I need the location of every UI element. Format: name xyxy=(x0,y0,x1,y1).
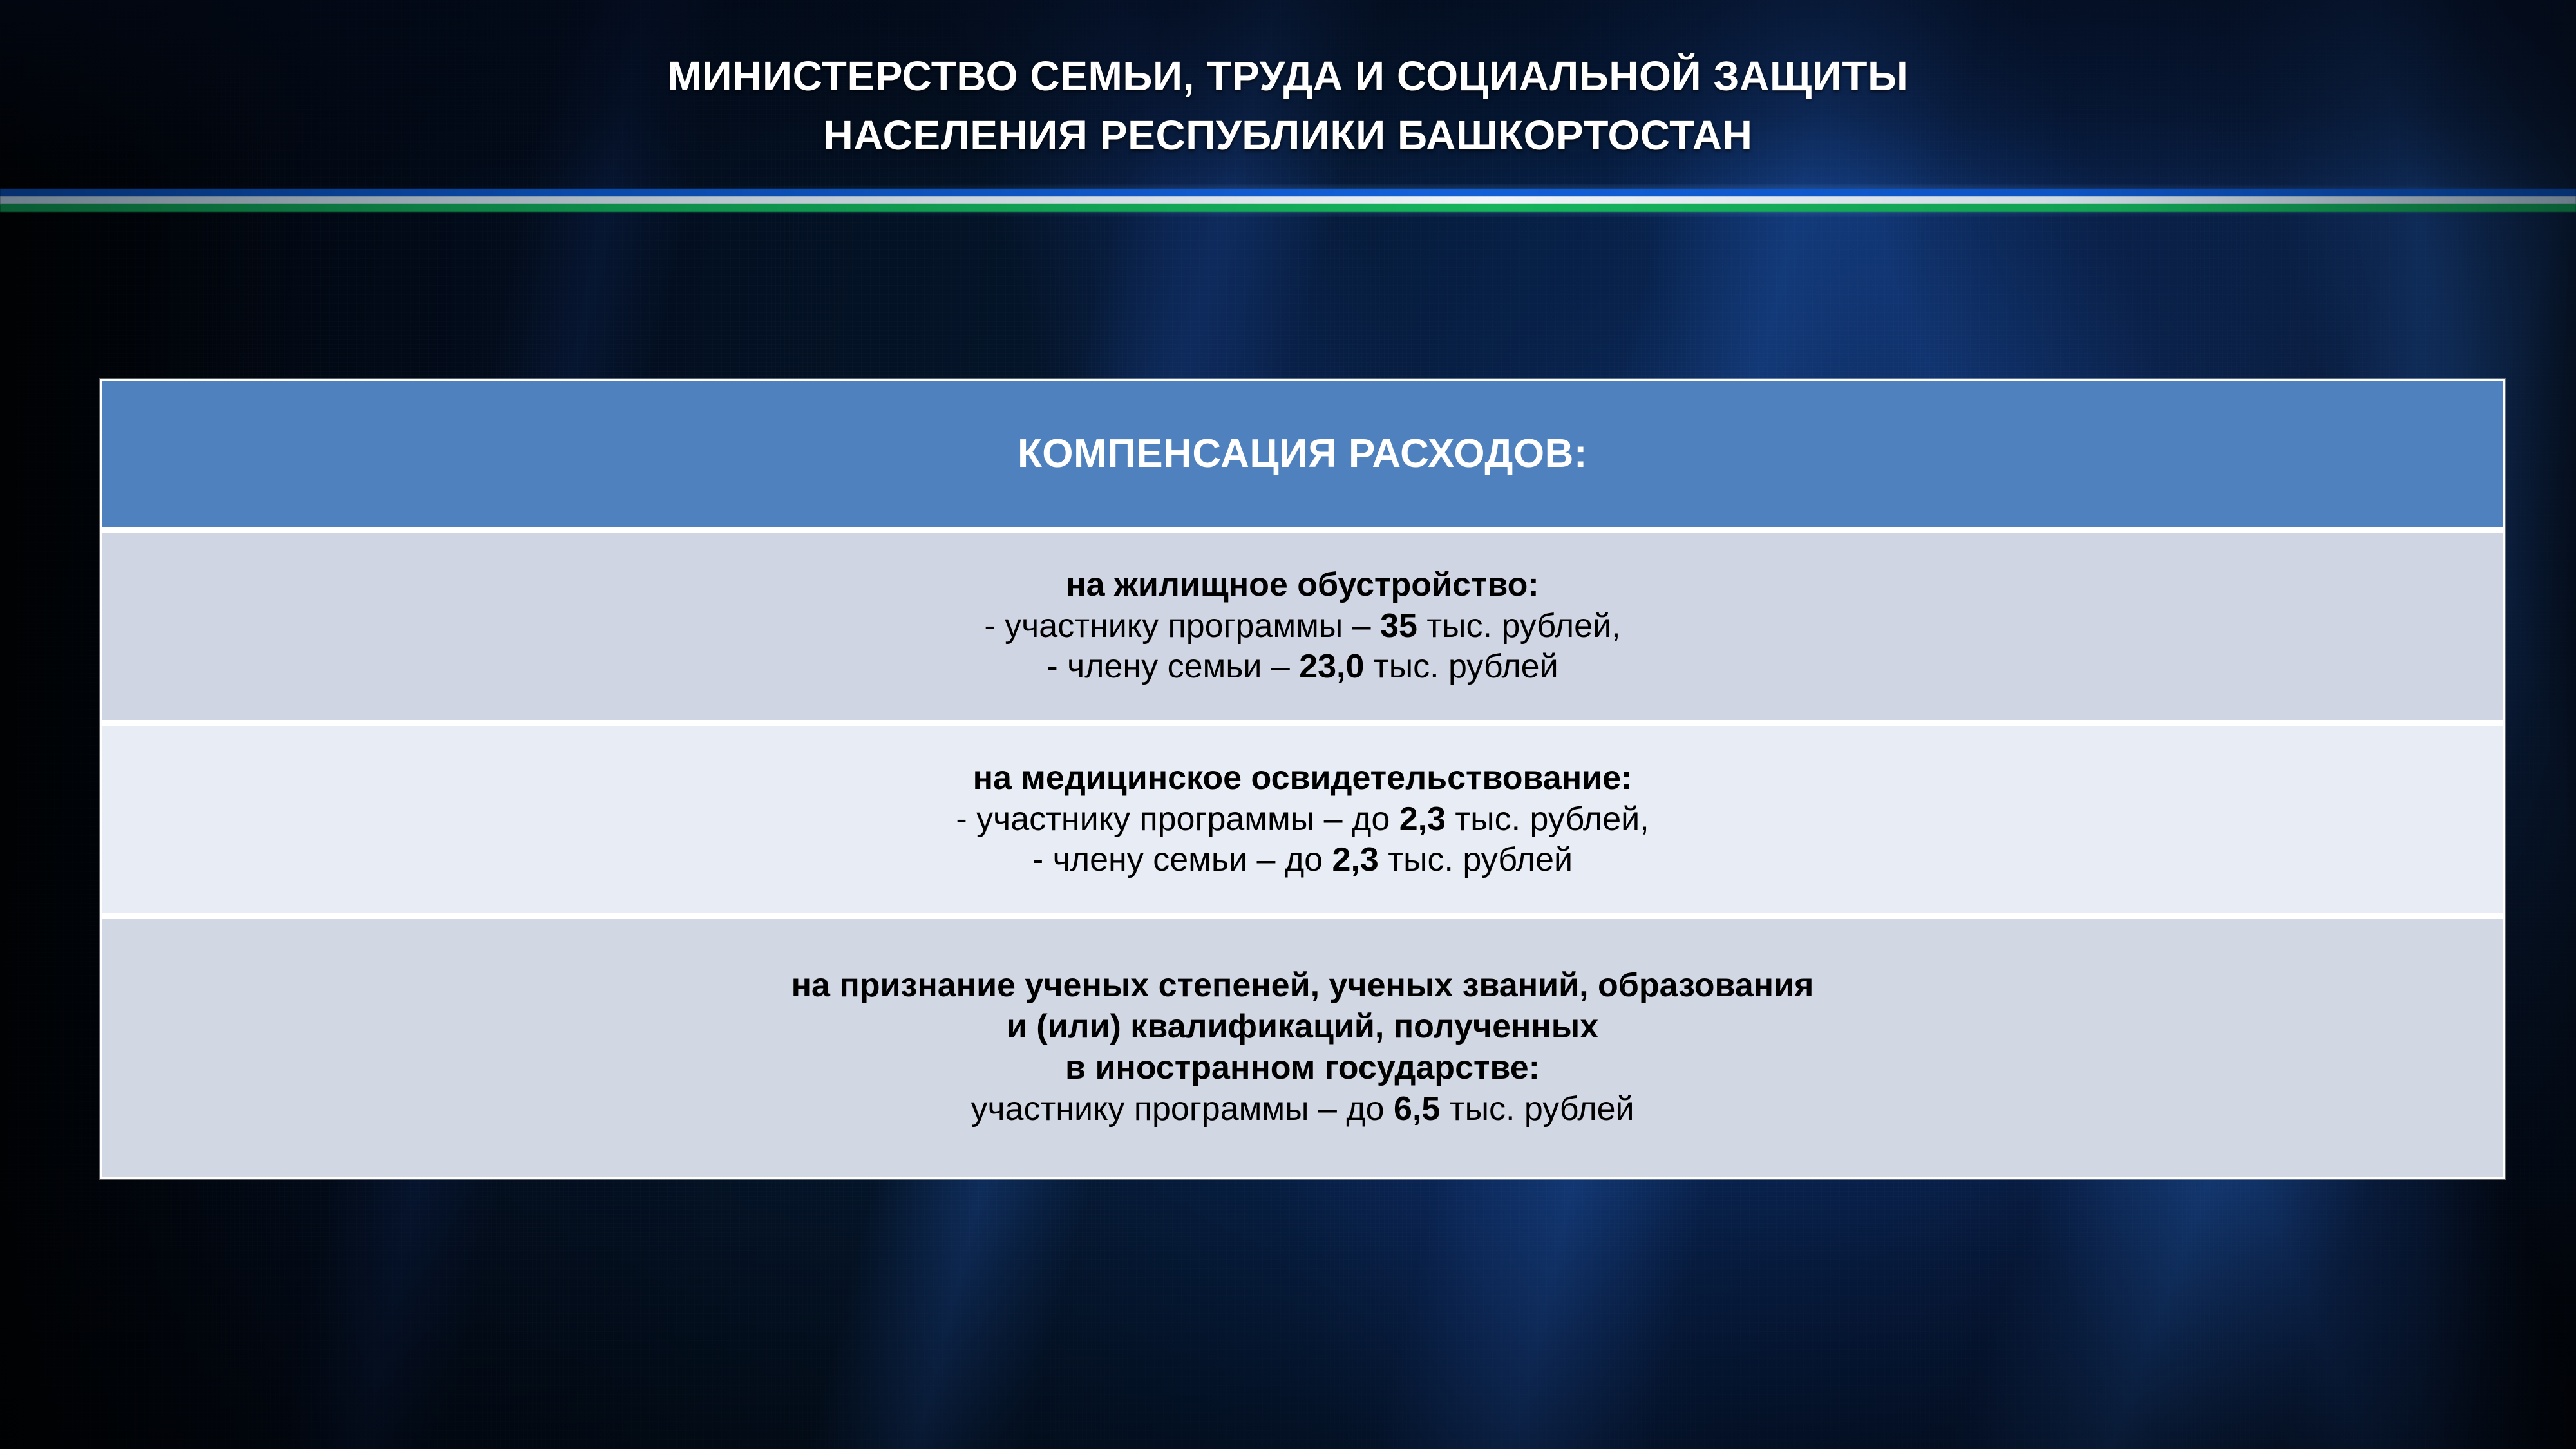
row-medical-heading: на медицинское освидетельствование: xyxy=(956,758,1649,799)
line-prefix: - члену семьи – до xyxy=(1032,841,1332,878)
line-prefix: - члену семьи – xyxy=(1046,648,1299,685)
row-housing-heading: на жилищное обустройство: xyxy=(984,565,1620,606)
row-recognition-heading-line-2: и (или) квалификаций, полученных xyxy=(791,1007,1814,1048)
slide-canvas: МИНИСТЕРСТВО СЕМЬИ, ТРУДА И СОЦИАЛЬНОЙ З… xyxy=(0,0,2576,1449)
title-band: МИНИСТЕРСТВО СЕМЬИ, ТРУДА И СОЦИАЛЬНОЙ З… xyxy=(0,0,2576,191)
line-prefix: - участнику программы – до xyxy=(956,800,1399,838)
row-housing-line-2: - члену семьи – 23,0 тыс. рублей xyxy=(984,647,1620,688)
row-recognition-heading-line-1: на признание ученых степеней, ученых зва… xyxy=(791,965,1814,1007)
table-row: на признание ученых степеней, ученых зва… xyxy=(102,919,2503,1177)
row-housing-content: на жилищное обустройство: - участнику пр… xyxy=(984,565,1620,688)
page-title: МИНИСТЕРСТВО СЕМЬИ, ТРУДА И СОЦИАЛЬНОЙ З… xyxy=(0,46,2576,165)
line-suffix: тыс. рублей, xyxy=(1417,607,1621,645)
line-prefix: участнику программы – до xyxy=(971,1090,1394,1128)
accent-rule-green-stripe xyxy=(0,204,2576,212)
line-value: 6,5 xyxy=(1394,1090,1440,1128)
row-recognition-line-1: участнику программы – до 6,5 тыс. рублей xyxy=(791,1089,1814,1130)
line-value: 35 xyxy=(1380,607,1417,645)
line-suffix: тыс. рублей xyxy=(1364,648,1558,685)
row-recognition-heading-line-3: в иностранном государстве: xyxy=(791,1048,1814,1089)
line-prefix: - участнику программы – xyxy=(984,607,1380,645)
row-housing-line-1: - участнику программы – 35 тыс. рублей, xyxy=(984,606,1620,647)
accent-rule-silver-stripe xyxy=(0,196,2576,205)
line-suffix: тыс. рублей xyxy=(1440,1090,1634,1128)
row-medical-line-2: - члену семьи – до 2,3 тыс. рублей xyxy=(956,840,1649,881)
table-header-row: КОМПЕНСАЦИЯ РАСХОДОВ: xyxy=(102,381,2503,533)
table-row: на жилищное обустройство: - участнику пр… xyxy=(102,533,2503,726)
table-row: на медицинское освидетельствование: - уч… xyxy=(102,726,2503,919)
row-recognition-content: на признание ученых степеней, ученых зва… xyxy=(791,965,1814,1130)
row-medical-line-1: - участнику программы – до 2,3 тыс. рубл… xyxy=(956,799,1649,840)
row-medical-content: на медицинское освидетельствование: - уч… xyxy=(956,758,1649,882)
line-value: 2,3 xyxy=(1399,800,1446,838)
line-value: 2,3 xyxy=(1332,841,1379,878)
line-value: 23,0 xyxy=(1299,648,1364,685)
compensation-table: КОМПЕНСАЦИЯ РАСХОДОВ: на жилищное обустр… xyxy=(100,379,2505,1179)
line-suffix: тыс. рублей xyxy=(1379,841,1573,878)
line-suffix: тыс. рублей, xyxy=(1446,800,1649,838)
table-header-label: КОМПЕНСАЦИЯ РАСХОДОВ: xyxy=(1018,430,1587,478)
